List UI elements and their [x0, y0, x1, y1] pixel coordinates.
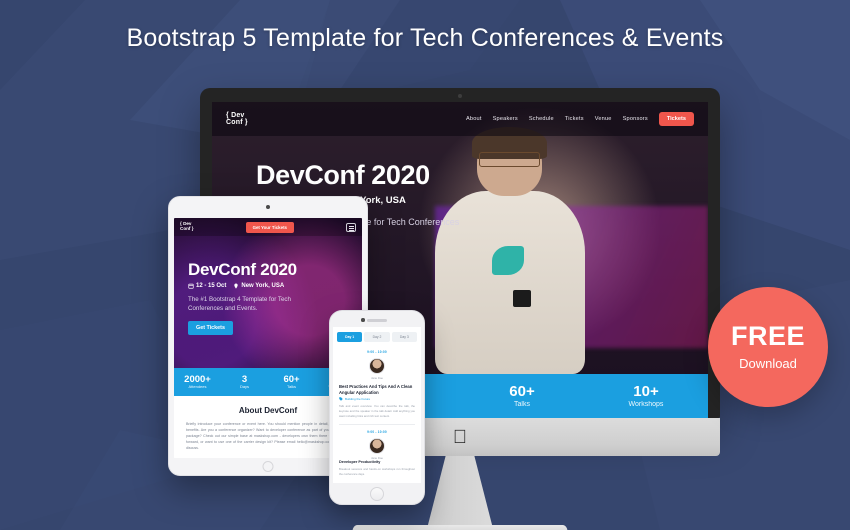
stat-workshops-label: Workshops	[584, 401, 708, 408]
imac-camera-icon	[458, 94, 462, 98]
tag-icon	[339, 397, 343, 401]
ipad-camera-icon	[266, 205, 270, 209]
imac-foot	[353, 525, 568, 530]
phone-screen: Day 1 Day 2 Day 3 9:00 - 10:00 Jane Doe …	[333, 327, 421, 483]
badge-subtitle: Download	[739, 356, 797, 371]
session-time-2: 9:00 - 10:00	[339, 430, 415, 434]
tablet-stat-attendees-value: 2000+	[174, 375, 221, 385]
phone-day-tabs: Day 1 Day 2 Day 3	[333, 327, 421, 346]
stat-workshops-value: 10+	[584, 384, 708, 401]
tablet-navbar: { Dev Conf } Get Your Tickets	[174, 218, 362, 236]
tablet-brand-logo[interactable]: { Dev Conf }	[180, 222, 194, 232]
page-title: Bootstrap 5 Template for Tech Conference…	[0, 24, 850, 53]
nav-item-speakers[interactable]: Speakers	[493, 116, 518, 122]
iphone-camera-icon	[361, 318, 365, 322]
tablet-hero-location-text: New York, USA	[241, 283, 284, 289]
phone-device-mockup: Day 1 Day 2 Day 3 9:00 - 10:00 Jane Doe …	[329, 310, 425, 505]
stat-talks-label: Talks	[460, 401, 584, 408]
tablet-stat-days: 3 Days	[221, 375, 268, 390]
tablet-get-tickets-button[interactable]: Get Tickets	[188, 321, 233, 335]
hero-title: DevConf 2020	[256, 160, 506, 191]
desktop-navbar: { Dev Conf } About Speakers Schedule Tic…	[212, 102, 708, 136]
tablet-stat-days-value: 3	[221, 375, 268, 385]
tablet-hero-copy: DevConf 2020 12 - 15 Oct New	[188, 260, 338, 335]
tablet-hero-date: 12 - 15 Oct	[188, 283, 226, 289]
tablet-hero-location: New York, USA	[233, 283, 284, 289]
tab-day-3[interactable]: Day 3	[392, 332, 417, 342]
nav-item-venue[interactable]: Venue	[595, 116, 612, 122]
phone-session-card: 9:00 - 10:00 Jane Doe Best Practices And…	[333, 346, 421, 483]
badge-title: FREE	[731, 323, 805, 350]
speaker-watch	[513, 290, 531, 307]
tablet-stat-days-label: Days	[221, 384, 268, 389]
speaker-avatar-2	[369, 438, 385, 454]
calendar-icon	[188, 283, 194, 289]
nav-tickets-button[interactable]: Tickets	[659, 112, 694, 126]
map-pin-icon	[233, 283, 239, 289]
phone-section-body: Breakout sessions and hands-on workshops…	[339, 467, 415, 477]
session-time: 9:00 - 10:00	[339, 350, 415, 354]
tablet-stat-talks-label: Talks	[268, 384, 315, 389]
tab-day-1[interactable]: Day 1	[337, 332, 362, 342]
tablet-hero-date-text: 12 - 15 Oct	[196, 283, 226, 289]
iphone-home-button[interactable]	[370, 487, 384, 501]
ipad-home-button[interactable]	[263, 461, 274, 472]
brand-logo[interactable]: { Dev Conf }	[226, 112, 248, 127]
about-paragraph: Briefly introduce your conference or eve…	[186, 421, 350, 452]
tablet-hero-subtitle: The #1 Bootstrap 4 Template for Tech Con…	[188, 295, 308, 314]
free-download-badge[interactable]: FREE Download	[708, 287, 828, 407]
nav-item-schedule[interactable]: Schedule	[529, 116, 554, 122]
stat-workshops: 10+ Workshops	[584, 384, 708, 408]
tablet-stat-attendees-label: Attendees	[174, 384, 221, 389]
hamburger-menu-icon[interactable]	[346, 223, 356, 232]
tablet-stat-talks-value: 60+	[268, 375, 315, 385]
apple-logo-icon: 	[453, 428, 467, 447]
nav-item-about[interactable]: About	[466, 116, 482, 122]
promo-banner: Bootstrap 5 Template for Tech Conference…	[0, 0, 850, 530]
tab-day-2[interactable]: Day 2	[364, 332, 389, 342]
tablet-tickets-button[interactable]: Get Your Tickets	[246, 222, 294, 233]
iphone-earpiece	[367, 319, 387, 322]
phone-section-heading: Developer Productivity	[339, 460, 415, 464]
nav-item-sponsors[interactable]: Sponsors	[623, 116, 648, 122]
stat-talks-value: 60+	[460, 384, 584, 401]
tablet-stat-talks: 60+ Talks	[268, 375, 315, 390]
session-tag-text: Building the Future	[345, 397, 370, 401]
divider	[339, 424, 415, 425]
desktop-nav-links: About Speakers Schedule Tickets Venue Sp…	[466, 112, 694, 126]
session-title: Best Practices And Tips And A Clean Angu…	[339, 384, 415, 395]
tablet-hero-meta: 12 - 15 Oct New York, USA	[188, 283, 338, 289]
stat-talks: 60+ Talks	[460, 384, 584, 408]
speaker-avatar	[369, 358, 385, 374]
session-speaker-name: Jane Doe	[339, 376, 415, 380]
session-description: Talk and event overview. You can describ…	[339, 404, 415, 419]
tablet-hero-title: DevConf 2020	[188, 260, 338, 280]
session-tag: Building the Future	[339, 397, 415, 401]
tablet-stat-attendees: 2000+ Attendees	[174, 375, 221, 390]
nav-item-tickets[interactable]: Tickets	[565, 116, 584, 122]
about-heading: About DevConf	[186, 406, 350, 415]
